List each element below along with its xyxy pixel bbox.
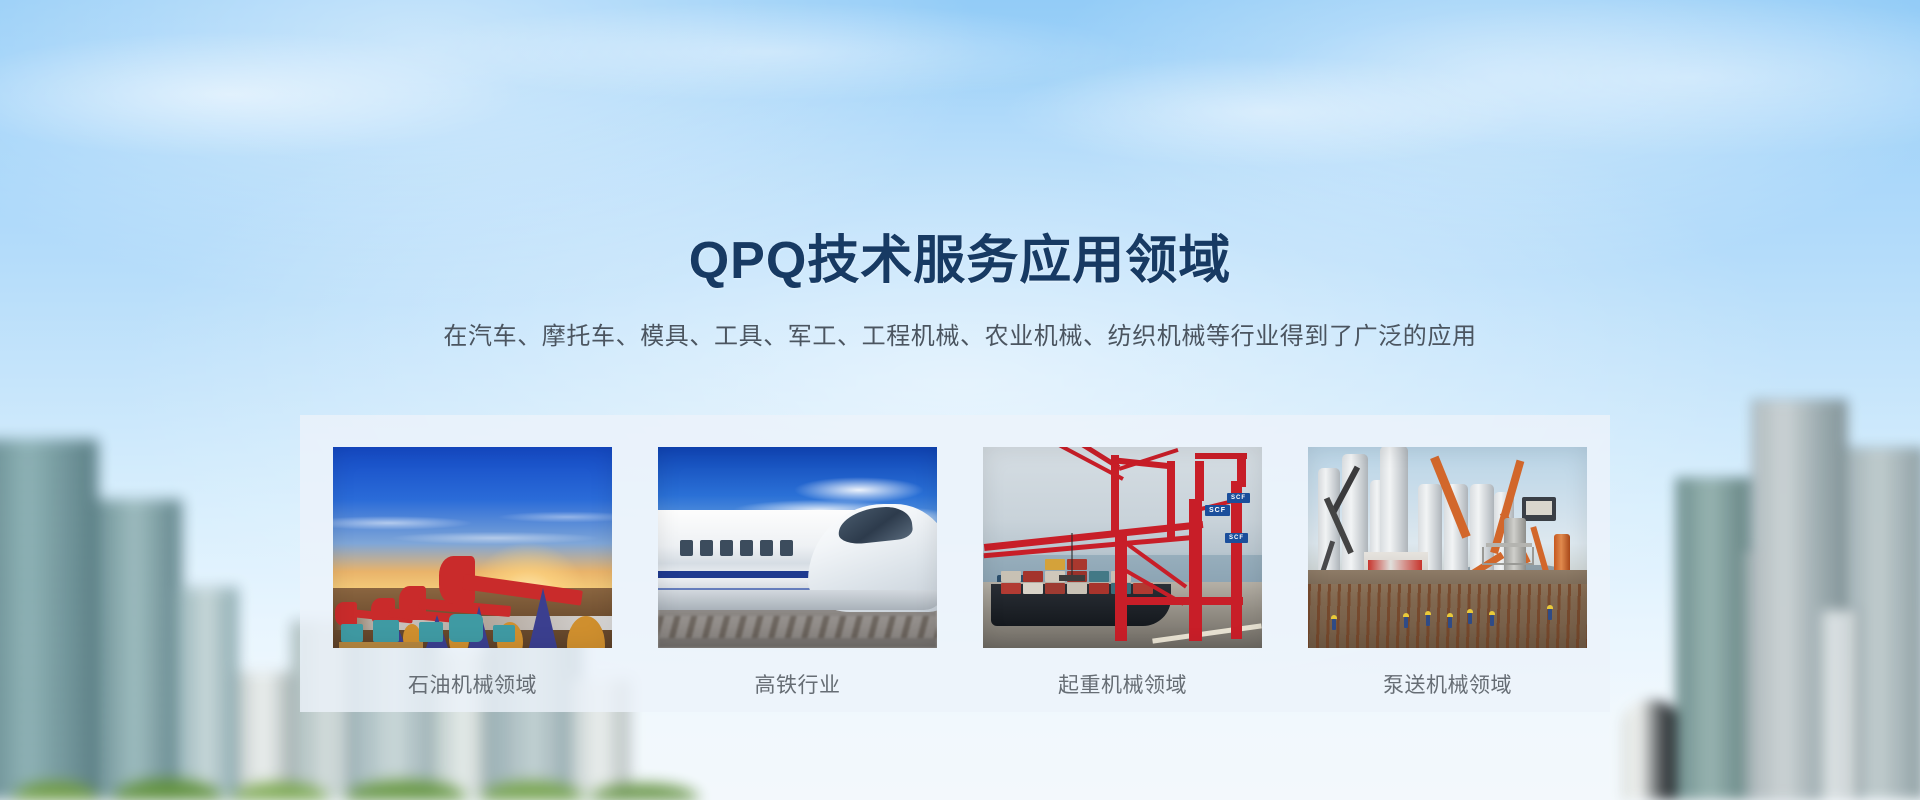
hero-heading-group: QPQ技术服务应用领域 在汽车、摩托车、模具、工具、军工、工程机械、农业机械、纺… (0, 232, 1920, 351)
page-title: QPQ技术服务应用领域 (0, 232, 1920, 290)
port-container-cranes-photo[interactable]: SCF SCF SCF (983, 447, 1262, 648)
card-oil-machinery[interactable]: 石油机械领域 (333, 447, 612, 699)
oil-pumpjacks-photo[interactable] (333, 447, 612, 648)
card-lifting-machinery[interactable]: SCF SCF SCF 起重机械领域 (983, 447, 1262, 699)
card-label: 石油机械领域 (333, 669, 612, 699)
card-label: 起重机械领域 (983, 669, 1262, 699)
hero-banner: QPQ技术服务应用领域 在汽车、摩托车、模具、工具、军工、工程机械、农业机械、纺… (0, 0, 1920, 800)
card-list: 石油机械领域 (333, 447, 1587, 699)
card-high-speed-rail[interactable]: 高铁行业 (658, 447, 937, 699)
high-speed-train-photo[interactable] (658, 447, 937, 648)
page-subtitle: 在汽车、摩托车、模具、工具、军工、工程机械、农业机械、纺织机械等行业得到了广泛的… (0, 316, 1920, 351)
concrete-pump-photo[interactable] (1308, 447, 1587, 648)
application-fields-panel: 石油机械领域 (300, 415, 1610, 712)
card-pumping-machinery[interactable]: 泵送机械领域 (1308, 447, 1587, 699)
card-label: 泵送机械领域 (1308, 669, 1587, 699)
card-label: 高铁行业 (658, 669, 937, 699)
